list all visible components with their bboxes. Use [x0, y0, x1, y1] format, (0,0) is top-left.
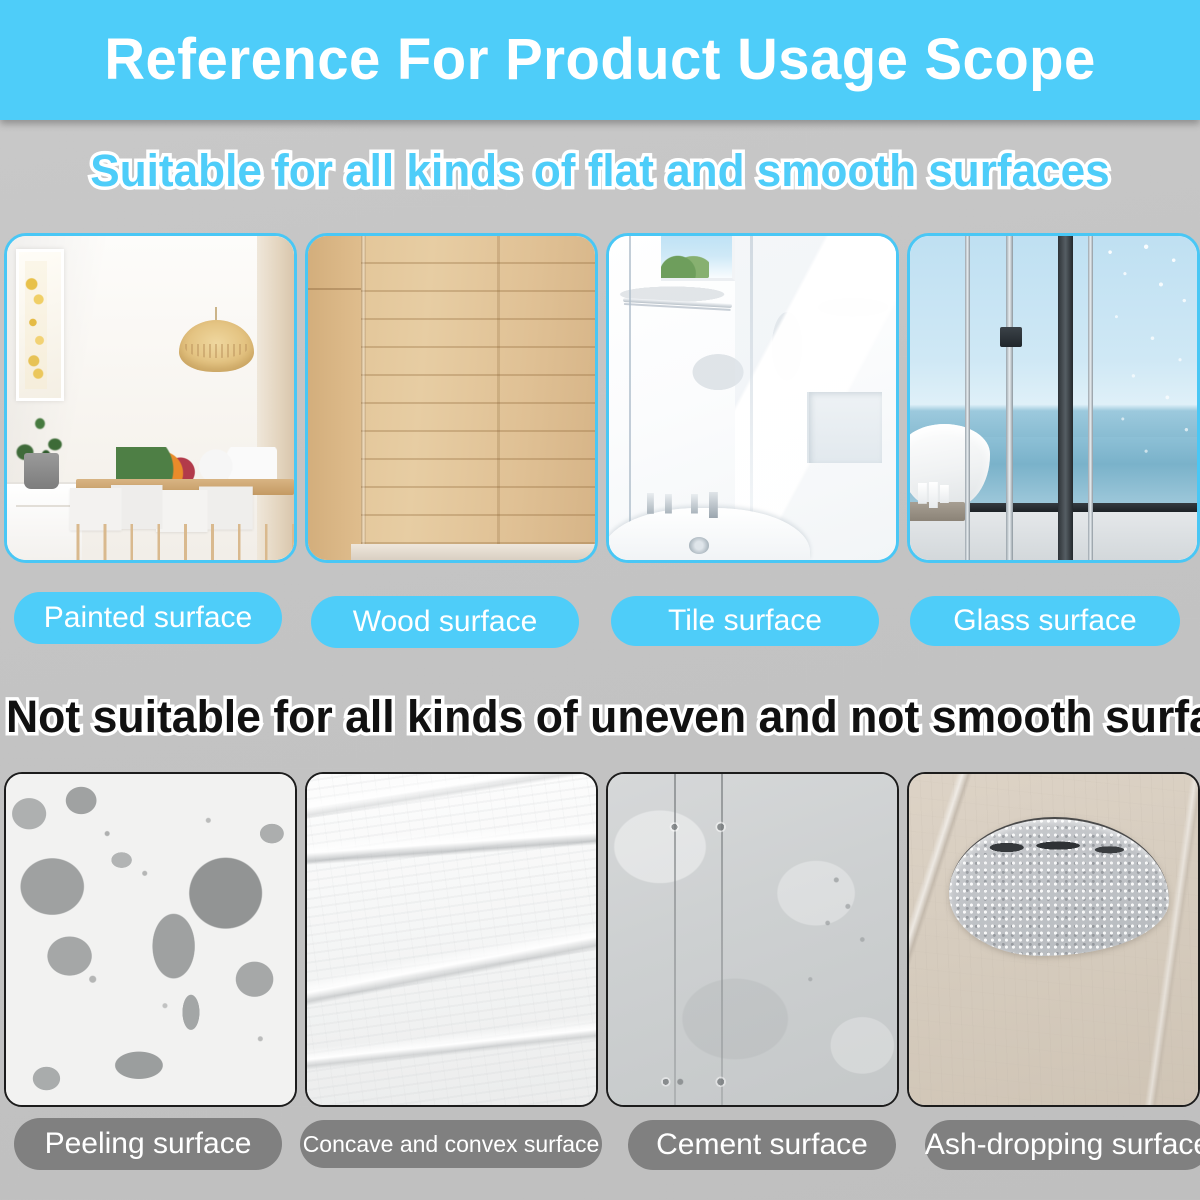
wood-vertical-seam — [361, 236, 366, 560]
label-concave-convex-surface[interactable]: Concave and convex surface — [300, 1120, 602, 1168]
wood-vertical-seam-secondary — [497, 236, 500, 560]
concave-convex-surface-photo — [307, 774, 596, 1105]
wood-left-panel — [308, 236, 361, 560]
header-banner: Reference For Product Usage Scope — [0, 0, 1200, 120]
unsuitable-photo-row — [4, 772, 1200, 1107]
plant-pot — [24, 453, 58, 489]
ash-dropping-surface-photo — [909, 774, 1198, 1105]
label-tile-surface[interactable]: Tile surface — [611, 596, 879, 646]
suitable-card-glass[interactable] — [907, 233, 1200, 563]
tub-drain — [689, 537, 709, 553]
painted-surface-photo — [7, 236, 294, 560]
floor-skirting — [351, 544, 595, 560]
suitable-card-painted[interactable] — [4, 233, 297, 563]
page-title: Reference For Product Usage Scope — [104, 31, 1095, 89]
label-glass-surface[interactable]: Glass surface — [910, 596, 1180, 646]
plaster-ridges — [307, 774, 596, 1105]
glass-mullion-3 — [1058, 236, 1073, 560]
label-wood-surface[interactable]: Wood surface — [311, 596, 579, 648]
glass-mullion-2 — [1006, 236, 1013, 560]
window-frame — [661, 236, 736, 281]
suitable-card-wood[interactable] — [305, 233, 598, 563]
unsuitable-card-ash[interactable] — [907, 772, 1200, 1107]
door-handle — [1000, 327, 1022, 347]
wall-corner-edge — [750, 236, 753, 515]
crumbling-plaster-patch — [949, 817, 1169, 956]
wall-art-frame — [16, 249, 65, 401]
unsuitable-heading: Not suitable for all kinds of uneven and… — [6, 692, 1194, 742]
suitable-card-tile[interactable] — [606, 233, 899, 563]
water-droplets — [1091, 236, 1197, 505]
toiletry-bottles — [916, 482, 956, 508]
glass-mullion-1 — [965, 236, 970, 560]
chair-legs — [70, 524, 294, 560]
peeling-surface-photo — [6, 774, 295, 1105]
suitable-heading: Suitable for all kinds of flat and smoot… — [12, 146, 1188, 196]
unsuitable-card-peeling[interactable] — [4, 772, 297, 1107]
shower-glass-panel — [629, 236, 631, 560]
tabletop-items — [116, 447, 277, 479]
label-ash-dropping-surface[interactable]: Ash-dropping surface — [925, 1120, 1200, 1170]
label-cement-surface[interactable]: Cement surface — [628, 1120, 896, 1170]
recessed-niche — [807, 392, 882, 463]
label-painted-surface[interactable]: Painted surface — [14, 592, 282, 644]
suitable-photo-row — [4, 233, 1200, 563]
glass-surface-photo — [910, 236, 1197, 560]
tie-holes — [608, 774, 897, 1105]
tile-surface-photo — [609, 236, 896, 560]
label-peeling-surface[interactable]: Peeling surface — [14, 1118, 282, 1170]
wood-surface-photo — [308, 236, 595, 560]
cement-surface-photo — [608, 774, 897, 1105]
paint-speckles — [6, 774, 295, 1105]
potted-plant — [13, 408, 73, 460]
rattan-pendant-lamp — [179, 320, 254, 372]
unsuitable-card-cement[interactable] — [606, 772, 899, 1107]
tub-faucets — [643, 492, 741, 518]
unsuitable-card-concave[interactable] — [305, 772, 598, 1107]
